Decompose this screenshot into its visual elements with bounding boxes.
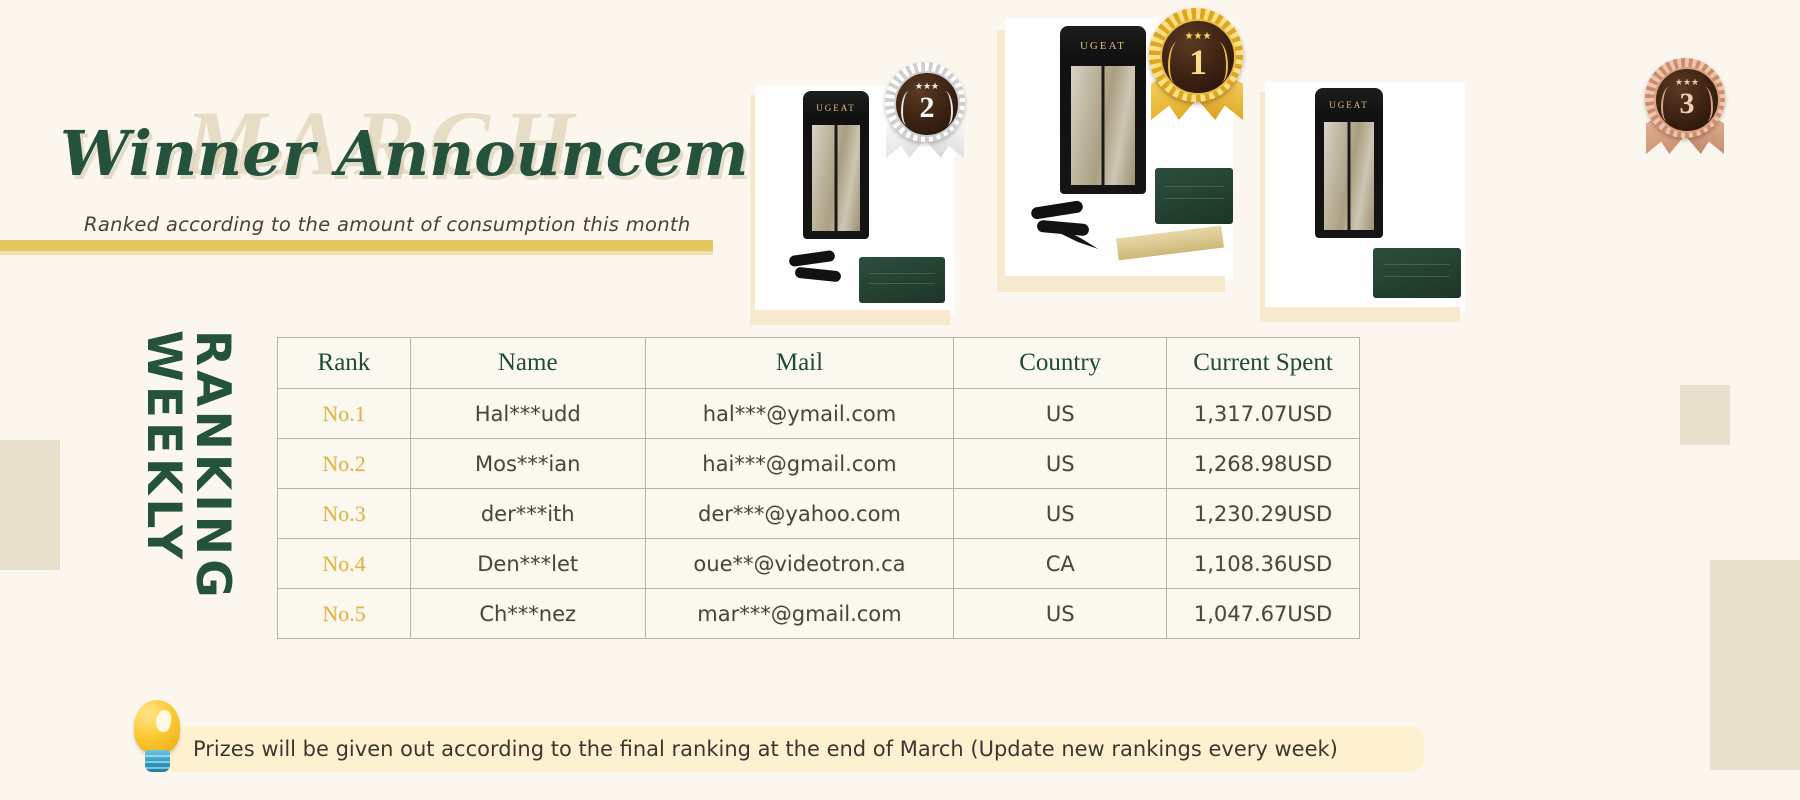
laurel-right-icon	[939, 91, 953, 125]
lightbulb-icon	[126, 700, 190, 778]
hair-clip	[1030, 200, 1083, 220]
section-vertical-label: WEEKLY RANKING	[140, 330, 236, 602]
tape-hair-pack	[1116, 226, 1224, 261]
laurel-right-icon	[1212, 42, 1228, 82]
medal-rank-number: 2	[920, 93, 935, 123]
cell-rank: No.2	[278, 439, 411, 489]
brand-label: UGEAT	[1315, 100, 1383, 110]
product-photo: UGEAT	[1265, 82, 1465, 307]
laurel-left-icon	[1168, 42, 1184, 82]
column-header-country: Country	[954, 338, 1167, 389]
gift-box-line	[1384, 264, 1451, 265]
laurel-left-icon	[1661, 87, 1675, 121]
gift-box-line	[869, 273, 934, 274]
column-header-rank: Rank	[278, 338, 411, 389]
medal-rank-number: 3	[1680, 89, 1695, 119]
gift-box-line	[1384, 276, 1451, 277]
medal-stars: ★★★	[896, 82, 958, 91]
decorative-block-right-large	[1710, 560, 1800, 770]
page-title: Winner Announcement	[60, 123, 862, 185]
product-card-rank-3: UGEAT	[1265, 82, 1465, 312]
cell-country: CA	[954, 539, 1167, 589]
bronze-medal-3: ★★★ 3	[1640, 58, 1730, 164]
product-pouch: UGEAT	[1315, 88, 1383, 238]
medal-stars: ★★★	[1656, 78, 1718, 87]
medal-rank-number: 1	[1189, 44, 1207, 80]
ranking-table-wrapper: Rank Name Mail Country Current Spent No.…	[277, 337, 1360, 639]
gift-box-line	[1164, 198, 1223, 199]
pouch-window	[812, 125, 860, 231]
column-header-spent: Current Spent	[1167, 338, 1360, 389]
table-row: No.4 Den***let oue**@videotron.ca CA 1,1…	[278, 539, 1360, 589]
cell-name: Ch***nez	[410, 589, 645, 639]
hair-clip	[795, 267, 842, 283]
cell-mail: mar***@gmail.com	[645, 589, 954, 639]
laurel-left-icon	[901, 91, 915, 125]
medal-disc: ★★★ 3	[1645, 58, 1725, 138]
cell-spent: 1,108.36USD	[1167, 539, 1360, 589]
silver-medal-2: ★★★ 2	[880, 62, 970, 168]
medal-inner: ★★★ 2	[894, 71, 960, 137]
medal-inner: ★★★ 1	[1160, 19, 1236, 95]
medal-disc: ★★★ 2	[885, 62, 965, 142]
medal-stars: ★★★	[1162, 32, 1234, 42]
medal-inner: ★★★ 3	[1654, 67, 1720, 133]
column-header-name: Name	[410, 338, 645, 389]
vertical-label-ranking: RANKING	[189, 330, 236, 602]
gift-box	[859, 257, 945, 303]
table-row: No.1 Hal***udd hal***@ymail.com US 1,317…	[278, 389, 1360, 439]
gold-underline-rule	[0, 240, 713, 251]
gift-box-line	[869, 283, 934, 284]
footer-note-banner: Prizes will be given out according to th…	[165, 726, 1424, 772]
cell-name: der***ith	[410, 489, 645, 539]
cell-name: Mos***ian	[410, 439, 645, 489]
product-pouch: UGEAT	[1060, 26, 1146, 194]
lightbulb-base	[145, 750, 170, 772]
cell-spent: 1,268.98USD	[1167, 439, 1360, 489]
cell-mail: hal***@ymail.com	[645, 389, 954, 439]
vertical-label-weekly: WEEKLY	[140, 330, 187, 602]
pouch-zipper	[835, 125, 838, 231]
cell-name: Hal***udd	[410, 389, 645, 439]
cell-country: US	[954, 589, 1167, 639]
gift-box-line	[1164, 186, 1223, 187]
brand-label: UGEAT	[1060, 40, 1146, 52]
decorative-block-left	[0, 440, 60, 570]
cell-country: US	[954, 389, 1167, 439]
pouch-zipper	[1348, 122, 1351, 230]
cell-spent: 1,047.67USD	[1167, 589, 1360, 639]
cell-rank: No.4	[278, 539, 411, 589]
table-row: No.2 Mos***ian hai***@gmail.com US 1,268…	[278, 439, 1360, 489]
cell-spent: 1,317.07USD	[1167, 389, 1360, 439]
table-row: No.5 Ch***nez mar***@gmail.com US 1,047.…	[278, 589, 1360, 639]
brand-label: UGEAT	[803, 103, 869, 113]
cell-name: Den***let	[410, 539, 645, 589]
column-header-mail: Mail	[645, 338, 954, 389]
pouch-window	[1324, 122, 1374, 230]
cell-rank: No.1	[278, 389, 411, 439]
laurel-right-icon	[1699, 87, 1713, 121]
hair-clip	[788, 250, 835, 267]
table-header-row: Rank Name Mail Country Current Spent	[278, 338, 1360, 389]
decorative-block-right-small	[1680, 385, 1730, 445]
cell-country: US	[954, 439, 1167, 489]
footer-note-text: Prizes will be given out according to th…	[165, 737, 1338, 761]
banner-canvas: MARCH Winner Announcement Ranked accordi…	[0, 0, 1800, 800]
cell-mail: hai***@gmail.com	[645, 439, 954, 489]
cell-spent: 1,230.29USD	[1167, 489, 1360, 539]
table-row: No.3 der***ith der***@yahoo.com US 1,230…	[278, 489, 1360, 539]
cell-rank: No.3	[278, 489, 411, 539]
cell-country: US	[954, 489, 1167, 539]
gift-box	[1373, 248, 1461, 298]
cell-mail: der***@yahoo.com	[645, 489, 954, 539]
gift-box	[1155, 168, 1233, 224]
ranking-table: Rank Name Mail Country Current Spent No.…	[277, 337, 1360, 639]
medal-disc: ★★★ 1	[1149, 8, 1243, 102]
product-pouch: UGEAT	[803, 91, 869, 239]
page-subtitle: Ranked according to the amount of consum…	[84, 213, 691, 236]
gold-medal-1: ★★★ 1	[1143, 8, 1249, 130]
pouch-window	[1071, 66, 1135, 185]
cell-rank: No.5	[278, 589, 411, 639]
cell-mail: oue**@videotron.ca	[645, 539, 954, 589]
pouch-zipper	[1102, 66, 1105, 185]
